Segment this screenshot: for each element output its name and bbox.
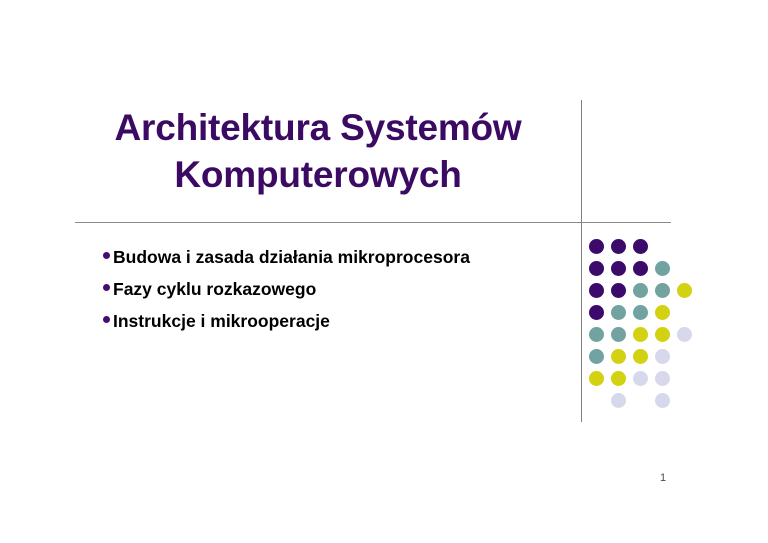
slide-title-line-2: Komputerowych	[62, 151, 574, 198]
dot-purple-icon	[633, 261, 648, 276]
list-item-label: Budowa i zasada działania mikroprocesora	[113, 246, 573, 269]
slide-canvas: Architektura Systemów Komputerowych Budo…	[0, 0, 768, 543]
dot-purple-icon	[611, 239, 626, 254]
dot-teal-icon	[589, 349, 604, 364]
slide-title-line-1: Architektura Systemów	[62, 104, 574, 151]
dot-lavender-icon	[655, 393, 670, 408]
dot-grid-row	[589, 393, 709, 415]
dot-yellow-icon	[655, 327, 670, 342]
dot-grid-row	[589, 371, 709, 393]
list-item-label: Fazy cyklu rozkazowego	[113, 278, 573, 301]
dot-teal-icon	[611, 305, 626, 320]
bullet-list: Budowa i zasada działania mikroprocesora…	[103, 246, 573, 342]
dot-purple-icon	[589, 261, 604, 276]
dot-yellow-icon	[611, 371, 626, 386]
dot-purple-icon	[589, 283, 604, 298]
vertical-divider-rule	[581, 100, 582, 422]
dot-yellow-icon	[633, 327, 648, 342]
dot-lavender-icon	[611, 393, 626, 408]
dot-purple-icon	[611, 261, 626, 276]
dot-purple-icon	[589, 305, 604, 320]
list-item: Fazy cyklu rozkazowego	[103, 278, 573, 301]
dot-grid-row	[589, 261, 709, 283]
dot-teal-icon	[611, 327, 626, 342]
dot-lavender-icon	[677, 327, 692, 342]
dot-yellow-icon	[611, 349, 626, 364]
dot-teal-icon	[633, 305, 648, 320]
list-item: Instrukcje i mikrooperacje	[103, 310, 573, 333]
dot-yellow-icon	[655, 305, 670, 320]
dot-purple-icon	[589, 239, 604, 254]
bullet-marker-icon	[103, 316, 110, 323]
dot-grid-row	[589, 283, 709, 305]
dot-lavender-icon	[655, 349, 670, 364]
list-item-label: Instrukcje i mikrooperacje	[113, 310, 573, 333]
page-number: 1	[660, 472, 666, 484]
dot-grid-row	[589, 349, 709, 371]
dot-lavender-icon	[655, 371, 670, 386]
dot-purple-icon	[611, 283, 626, 298]
dot-teal-icon	[655, 261, 670, 276]
bullet-marker-icon	[103, 284, 110, 291]
dot-yellow-icon	[589, 371, 604, 386]
dot-teal-icon	[589, 327, 604, 342]
dot-teal-icon	[633, 283, 648, 298]
bullet-marker-icon	[103, 252, 110, 259]
dot-grid-row	[589, 305, 709, 327]
dot-grid-row	[589, 327, 709, 349]
dot-teal-icon	[655, 283, 670, 298]
dot-lavender-icon	[633, 371, 648, 386]
dot-yellow-icon	[633, 349, 648, 364]
dot-yellow-icon	[677, 283, 692, 298]
horizontal-divider-rule	[75, 222, 671, 223]
dot-grid-row	[589, 239, 709, 261]
decorative-dot-grid	[589, 239, 709, 419]
slide-title: Architektura Systemów Komputerowych	[62, 104, 574, 199]
list-item: Budowa i zasada działania mikroprocesora	[103, 246, 573, 269]
dot-purple-icon	[633, 239, 648, 254]
